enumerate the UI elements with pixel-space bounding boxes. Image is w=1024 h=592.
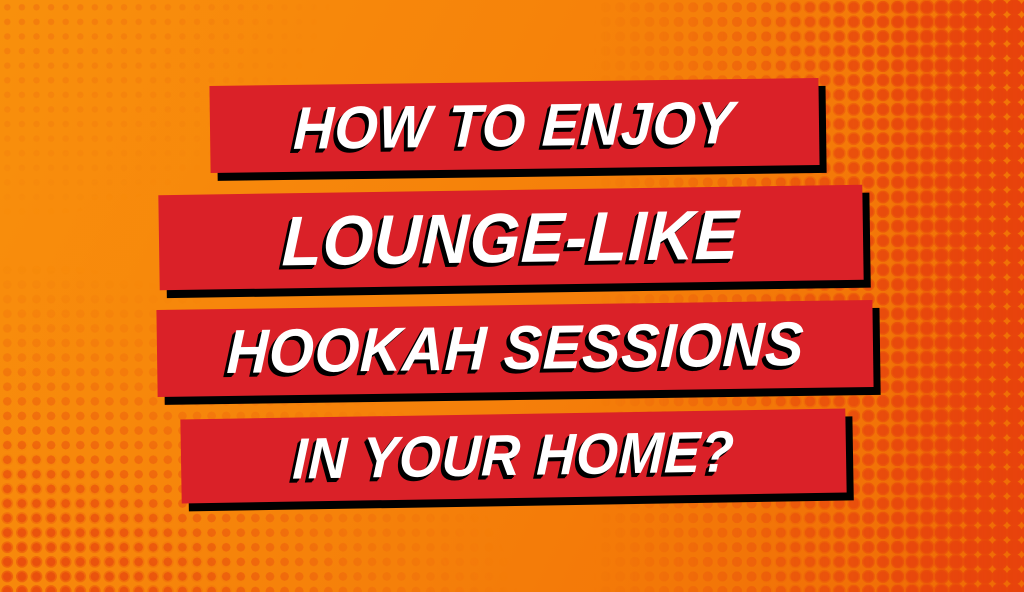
- headline-line-4: IN YOUR HOME?: [292, 423, 736, 488]
- headline-block: HOW TO ENJOY LOUNGE-LIKE HOOKAH SESSIONS…: [0, 0, 1024, 592]
- headline-bar-3: HOOKAH SESSIONS: [156, 300, 873, 397]
- headline-line-2: LOUNGE-LIKE: [281, 199, 740, 276]
- headline-line-3: HOOKAH SESSIONS: [225, 313, 805, 383]
- promo-banner-canvas: HOW TO ENJOY LOUNGE-LIKE HOOKAH SESSIONS…: [0, 0, 1024, 592]
- headline-line-1: HOW TO ENJOY: [293, 93, 736, 159]
- headline-bar-2: LOUNGE-LIKE: [158, 185, 863, 290]
- headline-bar-1: HOW TO ENJOY: [209, 78, 819, 173]
- headline-bar-4: IN YOUR HOME?: [180, 408, 846, 503]
